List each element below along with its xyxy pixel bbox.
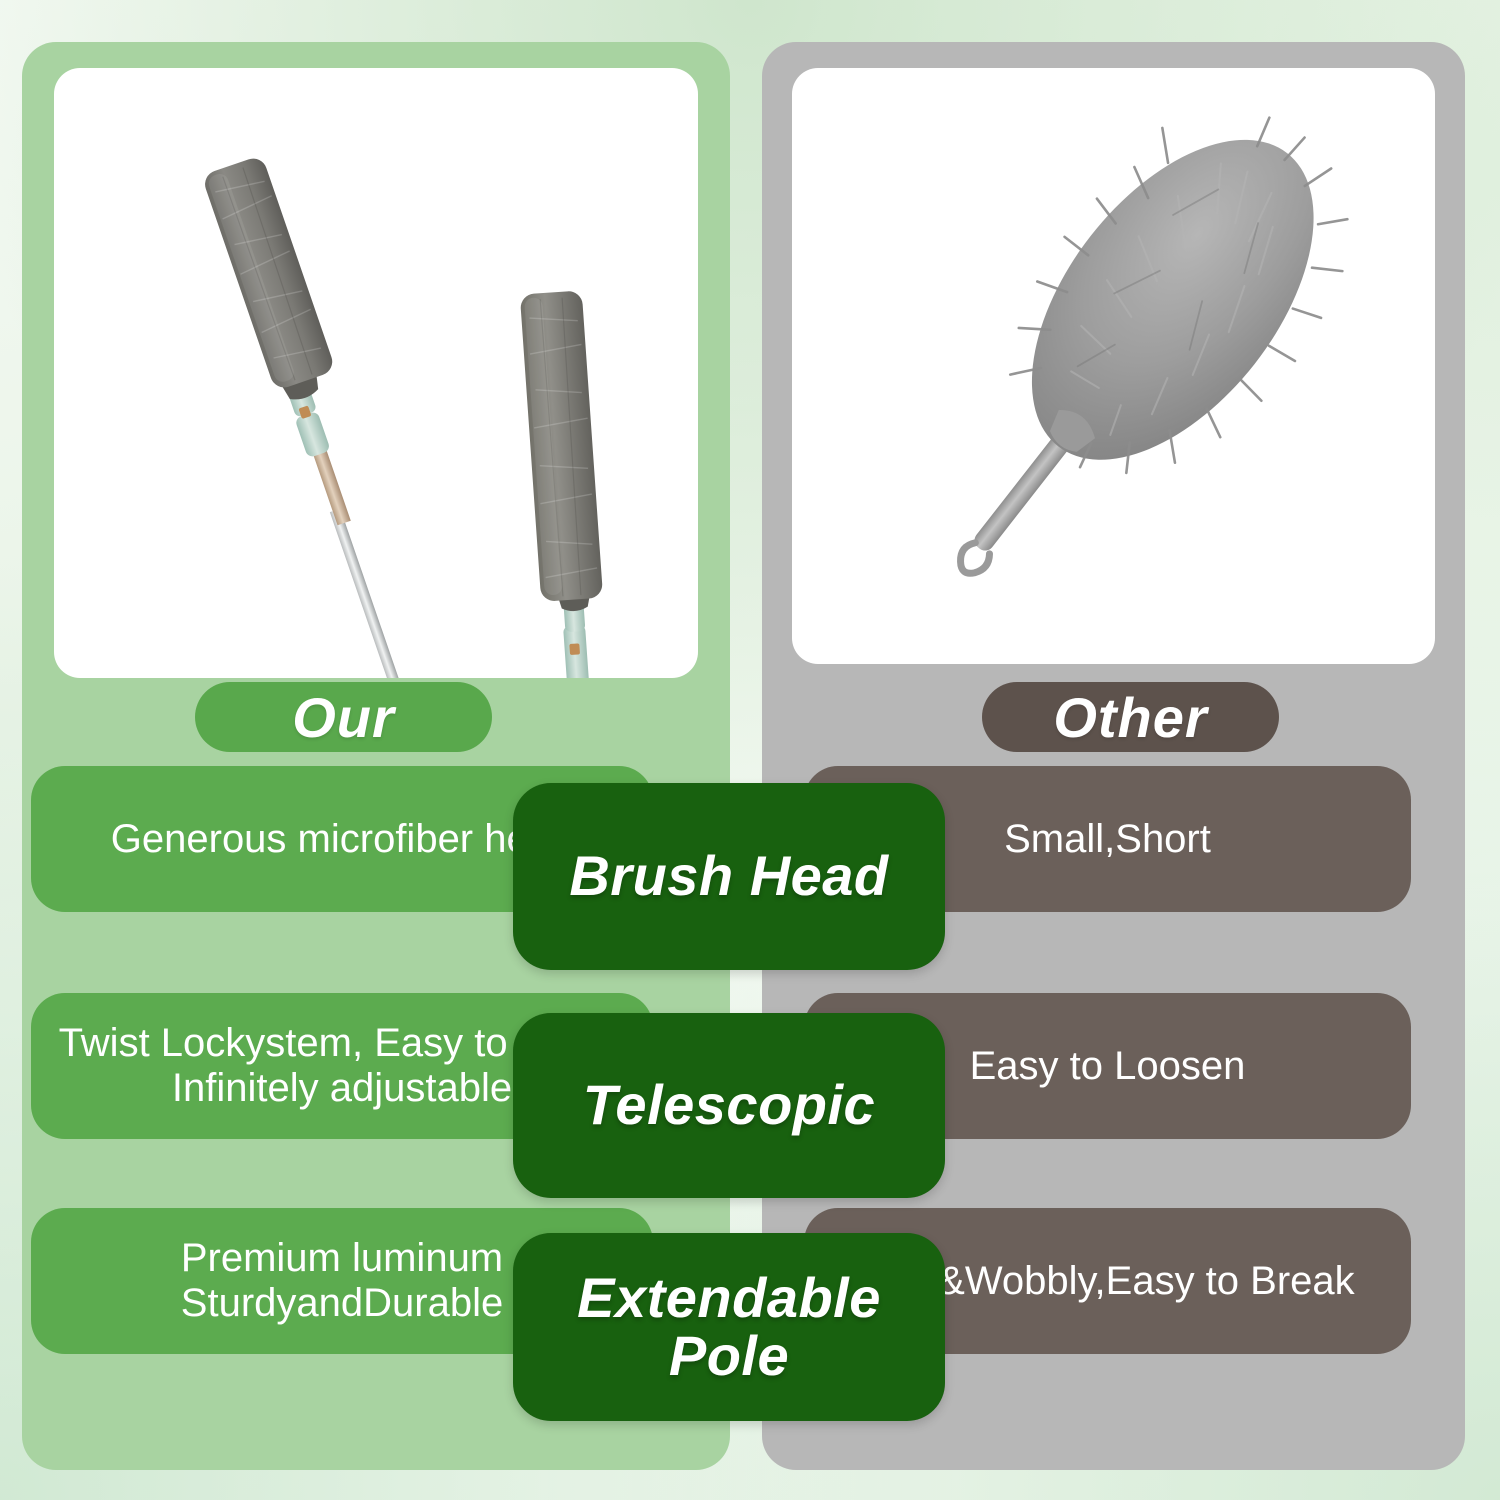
our-header-pill: Our [195, 682, 492, 752]
other-product-photo [792, 68, 1435, 664]
feature-label-brush-head: Brush Head [513, 783, 945, 970]
feather-duster-illustration [792, 68, 1435, 664]
feature-label-extendable-pole: Extendable Pole [513, 1233, 945, 1421]
comparison-infographic: Our [0, 0, 1500, 1500]
our-product-photo [54, 68, 698, 678]
feature-label-telescopic: Telescopic [513, 1013, 945, 1198]
telescopic-microfiber-gap-duster-illustration [54, 68, 698, 678]
other-header-pill: Other [982, 682, 1279, 752]
